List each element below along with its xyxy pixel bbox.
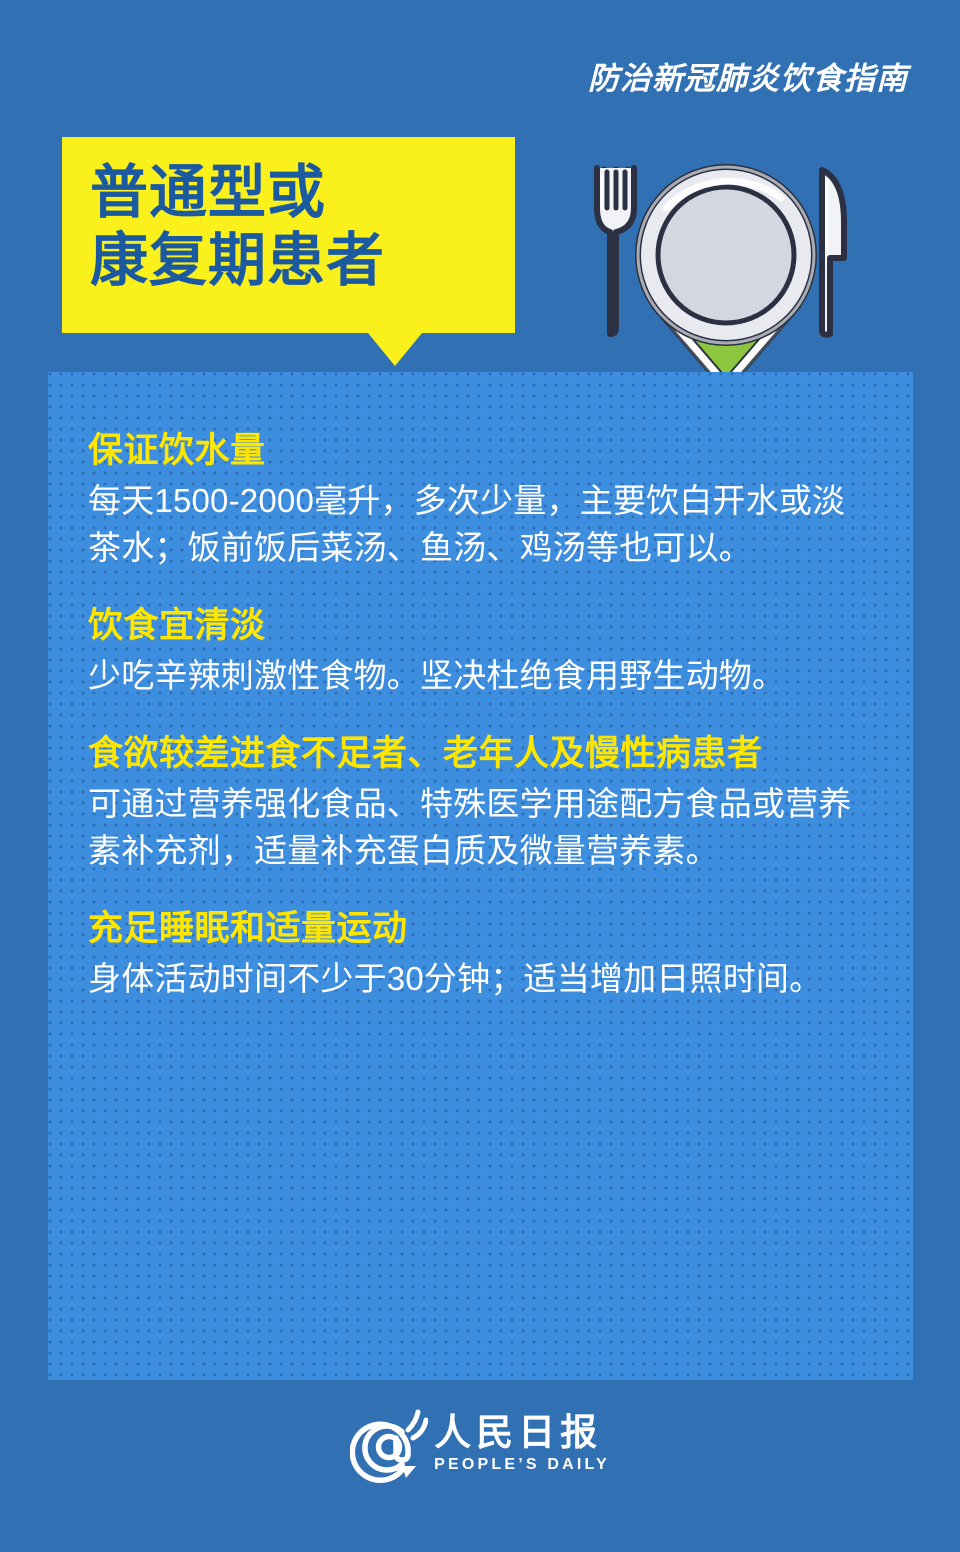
tip-section: 饮食宜清淡 少吃辛辣刺激性食物。坚决杜绝食用野生动物。 <box>88 605 873 699</box>
logo-name-en: PEOPLE’S DAILY <box>434 1455 610 1474</box>
callout-text: 普通型或 康复期患者 <box>90 159 510 296</box>
tip-heading: 充足睡眠和适量运动 <box>88 908 873 951</box>
tip-heading: 食欲较差进食不足者、老年人及慢性病患者 <box>88 733 873 776</box>
content-panel: 保证饮水量 每天1500-2000毫升，多次少量，主要饮白开水或淡茶水；饭前饭后… <box>48 372 913 1380</box>
callout-line-1: 普通型或 <box>90 159 510 227</box>
content-list: 保证饮水量 每天1500-2000毫升，多次少量，主要饮白开水或淡茶水；饭前饭后… <box>48 372 913 1022</box>
callout-line-2: 康复期患者 <box>90 227 510 295</box>
poster-root: 防治新冠肺炎饮食指南 普通型或 康复期患者 <box>0 0 960 1552</box>
logo-wrap: 人民日报 PEOPLE’S DAILY <box>350 1408 610 1486</box>
plate-icon <box>638 167 814 343</box>
tip-body: 少吃辛辣刺激性食物。坚决杜绝食用野生动物。 <box>88 652 873 699</box>
tip-section: 食欲较差进食不足者、老年人及慢性病患者 可通过营养强化食品、特殊医学用途配方食品… <box>88 733 873 874</box>
logo-name-cn: 人民日报 <box>434 1414 610 1453</box>
tip-body: 身体活动时间不少于30分钟；适当增加日照时间。 <box>88 955 873 1002</box>
tip-heading: 饮食宜清淡 <box>88 605 873 648</box>
footer-logo: 人民日报 PEOPLE’S DAILY <box>0 1404 960 1490</box>
fork-plate-knife-icon <box>566 150 886 380</box>
tip-section: 保证饮水量 每天1500-2000毫升，多次少量，主要饮白开水或淡茶水；饭前饭后… <box>88 430 873 571</box>
tip-section: 充足睡眠和适量运动 身体活动时间不少于30分钟；适当增加日照时间。 <box>88 908 873 1002</box>
tip-body: 可通过营养强化食品、特殊医学用途配方食品或营养素补充剂，适量补充蛋白质及微量营养… <box>88 780 873 874</box>
callout-box: 普通型或 康复期患者 <box>62 137 515 333</box>
at-sign-speech-icon <box>350 1408 428 1486</box>
tip-body: 每天1500-2000毫升，多次少量，主要饮白开水或淡茶水；饭前饭后菜汤、鱼汤、… <box>88 477 873 571</box>
logo-textblock: 人民日报 PEOPLE’S DAILY <box>434 1408 610 1474</box>
tip-heading: 保证饮水量 <box>88 430 873 473</box>
fork-icon <box>597 168 634 335</box>
callout-tail-triangle <box>368 333 422 366</box>
page-title: 防治新冠肺炎饮食指南 <box>588 63 908 94</box>
knife-icon <box>822 170 844 335</box>
